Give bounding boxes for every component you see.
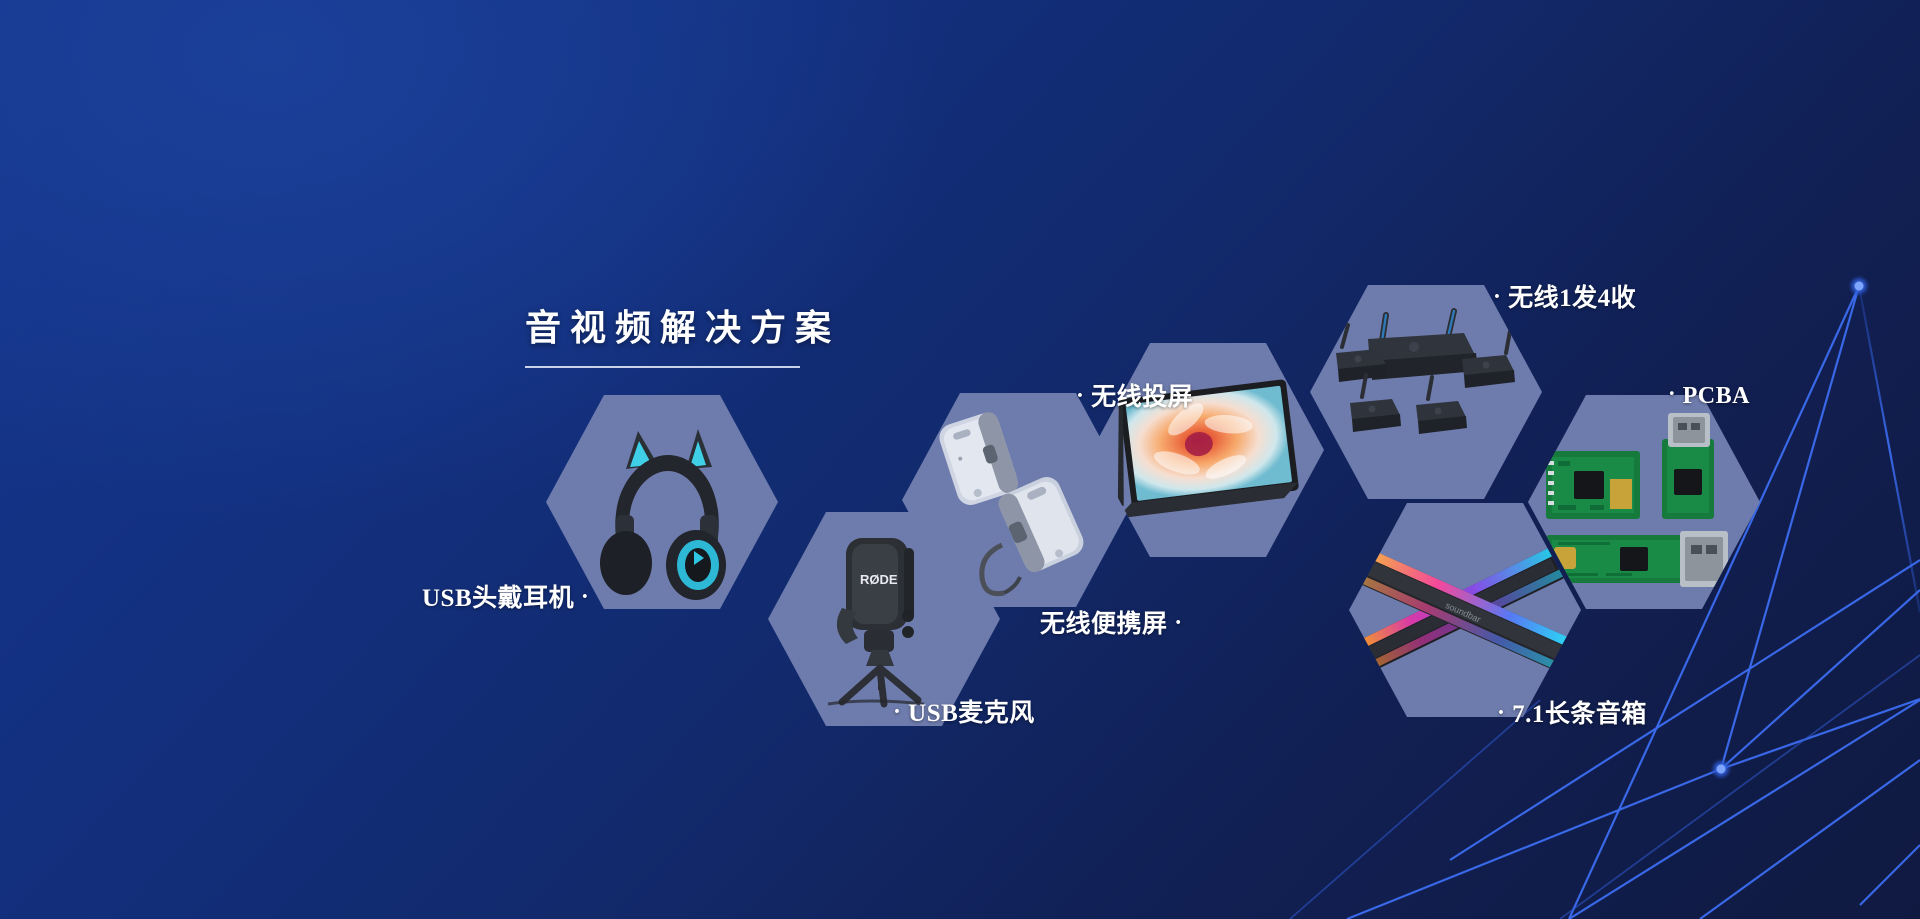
- label-usb-microphone: · USB麦克风: [893, 693, 1035, 729]
- bullet-icon: ·: [893, 699, 901, 725]
- label-usb-microphone-text: USB麦克风: [908, 700, 1035, 727]
- label-pcba: · PCBA: [1668, 383, 1750, 410]
- label-wireless-casting: · 无线投屏: [1076, 377, 1193, 413]
- bullet-icon: ·: [1174, 610, 1182, 636]
- svg-text:RØDE: RØDE: [860, 572, 898, 587]
- product-honeycomb: RØDE: [0, 0, 1920, 919]
- label-wireless-1t4r: · 无线1发4收: [1493, 278, 1636, 314]
- portable-monitor-image: [1092, 343, 1324, 557]
- label-soundbar-71: · 7.1长条音箱: [1497, 694, 1647, 730]
- page-title-block: 音视频解决方案: [525, 310, 840, 368]
- label-wireless-portable-screen: 无线便携屏 ·: [1040, 604, 1183, 640]
- hex-cell-wireless-1t4r[interactable]: [1310, 285, 1542, 499]
- label-usb-headset: USB头戴耳机 ·: [422, 578, 589, 614]
- bullet-icon: ·: [1076, 383, 1084, 409]
- router-and-receivers-image: [1310, 285, 1542, 499]
- bullet-icon: ·: [1493, 284, 1501, 310]
- cat-ear-headset-image: [546, 395, 778, 609]
- bullet-icon: ·: [581, 584, 589, 610]
- label-soundbar-71-text: 7.1长条音箱: [1512, 701, 1647, 728]
- label-pcba-text: PCBA: [1683, 383, 1750, 409]
- title-underline: [525, 366, 800, 368]
- label-wireless-1t4r-text: 无线1发4收: [1508, 285, 1636, 312]
- page-title: 音视频解决方案: [525, 310, 840, 346]
- bullet-icon: ·: [1668, 381, 1676, 406]
- label-wireless-portable-screen-text: 无线便携屏: [1040, 611, 1168, 638]
- hex-cell-wireless-portable-screen[interactable]: [1092, 343, 1324, 557]
- audio-video-solutions-banner: RØDE: [0, 0, 1920, 919]
- label-usb-headset-text: USB头戴耳机: [422, 585, 574, 612]
- label-wireless-casting-text: 无线投屏: [1091, 384, 1193, 411]
- hex-cell-usb-headset[interactable]: [546, 395, 778, 609]
- bullet-icon: ·: [1497, 700, 1505, 726]
